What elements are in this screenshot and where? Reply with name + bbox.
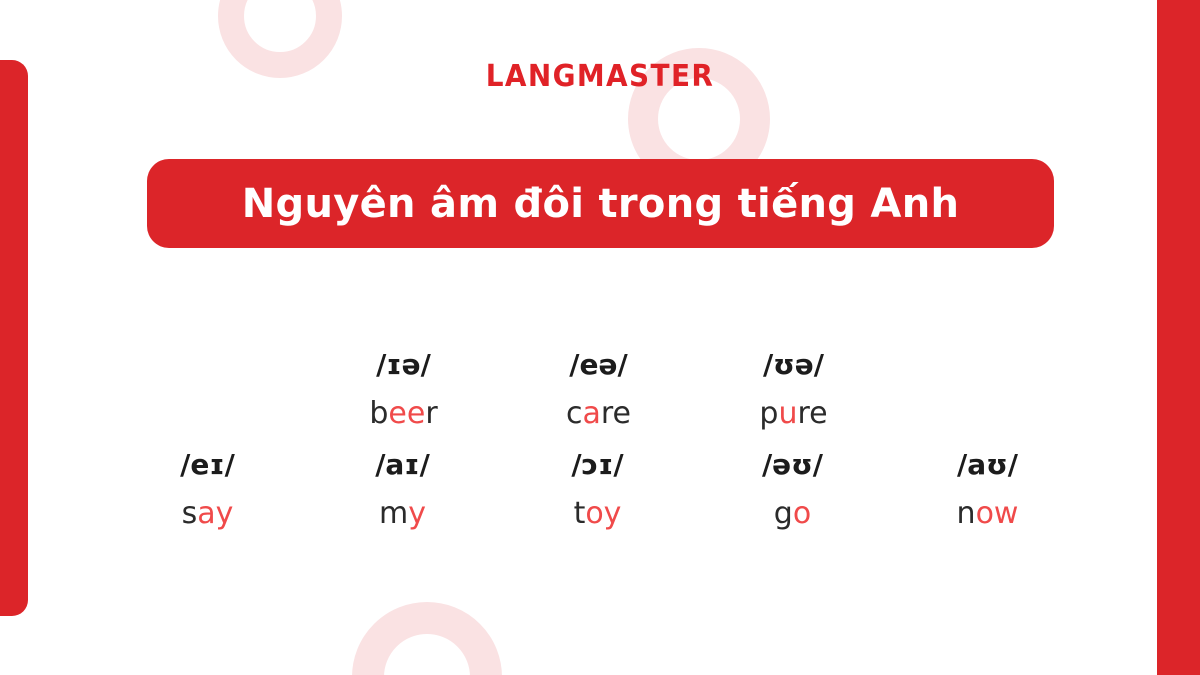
word-suffix: r — [425, 396, 437, 431]
phoneme-cell: /ʊə/pure — [696, 350, 891, 450]
word-prefix: s — [182, 496, 198, 531]
phoneme-cell: /əʊ/go — [695, 450, 890, 550]
decorative-ring-bottom — [352, 602, 502, 675]
example-word: my — [305, 497, 500, 530]
phoneme-cell: /eɪ/say — [110, 450, 305, 550]
word-suffix: re — [797, 396, 827, 431]
word-prefix: b — [369, 396, 388, 431]
ipa-symbol: /ɔɪ/ — [500, 450, 695, 481]
example-word: now — [890, 497, 1085, 530]
word-prefix: t — [574, 496, 586, 531]
example-word: say — [110, 497, 305, 530]
phoneme-cell: /aɪ/my — [305, 450, 500, 550]
word-highlight: o — [793, 496, 811, 531]
brand-logo: LANGMASTER — [42, 59, 1158, 94]
word-highlight: y — [408, 496, 426, 531]
word-highlight: ee — [388, 396, 425, 431]
word-prefix: m — [379, 496, 408, 531]
decorative-bar-left — [0, 60, 28, 616]
example-word: care — [501, 397, 696, 430]
word-prefix: c — [566, 396, 583, 431]
word-highlight: u — [778, 396, 797, 431]
word-prefix: n — [957, 496, 976, 531]
phoneme-cell: /ɔɪ/toy — [500, 450, 695, 550]
phoneme-cell: /aʊ/now — [890, 450, 1085, 550]
word-highlight: ow — [976, 496, 1019, 531]
phoneme-row: /ɪə/beer/eə/care/ʊə/pure — [110, 350, 1090, 450]
phoneme-cell: /eə/care — [501, 350, 696, 450]
title-banner: Nguyên âm đôi trong tiếng Anh — [147, 159, 1054, 248]
ipa-symbol: /ʊə/ — [696, 350, 891, 381]
word-prefix: g — [774, 496, 793, 531]
ipa-symbol: /aɪ/ — [305, 450, 500, 481]
ipa-symbol: /ɪə/ — [306, 350, 501, 381]
phoneme-cell: /ɪə/beer — [306, 350, 501, 450]
page-title: Nguyên âm đôi trong tiếng Anh — [242, 181, 960, 227]
phoneme-row: /eɪ/say/aɪ/my/ɔɪ/toy/əʊ/go/aʊ/now — [110, 450, 1090, 550]
ipa-symbol: /eɪ/ — [110, 450, 305, 481]
ipa-symbol: /əʊ/ — [695, 450, 890, 481]
word-highlight: a — [582, 396, 600, 431]
decorative-bar-right — [1157, 0, 1200, 675]
example-word: toy — [500, 497, 695, 530]
word-highlight: ay — [197, 496, 233, 531]
word-suffix: re — [601, 396, 631, 431]
ipa-symbol: /eə/ — [501, 350, 696, 381]
phoneme-grid: /ɪə/beer/eə/care/ʊə/pure /eɪ/say/aɪ/my/ɔ… — [110, 350, 1090, 550]
ipa-symbol: /aʊ/ — [890, 450, 1085, 481]
word-prefix: p — [759, 396, 778, 431]
example-word: pure — [696, 397, 891, 430]
word-highlight: oy — [585, 496, 621, 531]
example-word: beer — [306, 397, 501, 430]
example-word: go — [695, 497, 890, 530]
